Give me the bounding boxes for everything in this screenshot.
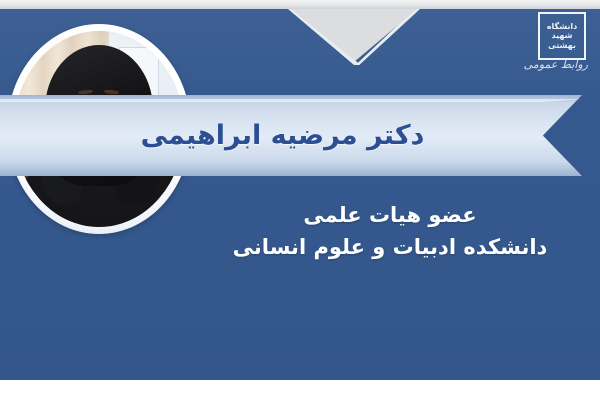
subtitle-faculty: دانشکده ادبیات و علوم انسانی [190,232,590,264]
logo-script-text: روابط عمومی [478,58,588,71]
page-title: دکتر مرضیه ابراهیمی [0,95,565,176]
subtitle-role: عضو هیات علمی [190,200,590,232]
logo-emblem-box: دانشگاه شهید بهشتی [538,12,586,60]
university-logo: دانشگاه شهید بهشتی روابط عمومی [474,8,592,84]
bottom-white-band [0,380,600,400]
subtitle-block: عضو هیات علمی دانشکده ادبیات و علوم انسا… [190,200,590,263]
poster-canvas: دکتر مرضیه ابراهیمی عضو هیات علمی دانشکد… [0,0,600,400]
logo-emblem-text: دانشگاه شهید بهشتی [540,14,584,58]
